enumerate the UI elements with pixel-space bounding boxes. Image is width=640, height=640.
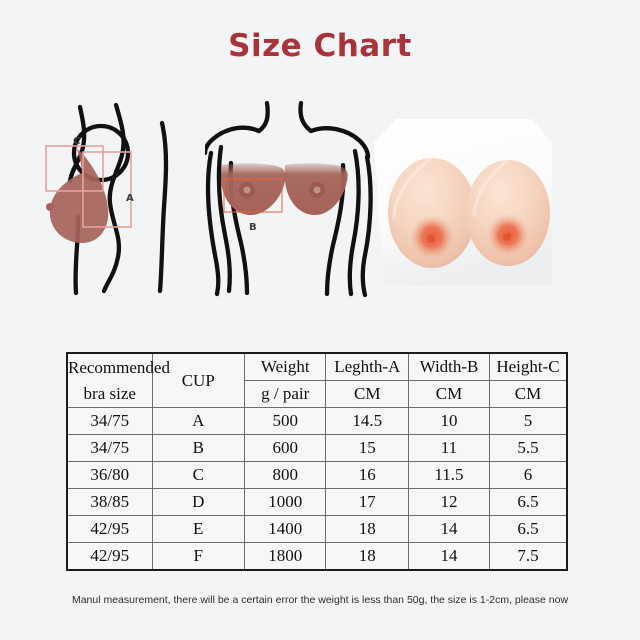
- table-row: 38/85 D 1000 17 12 6.5: [67, 489, 567, 516]
- size-table-container: Recommended bra size CUP Weight Leghth-A…: [66, 352, 568, 571]
- cell-cup: A: [152, 408, 245, 435]
- unit-length-a: CM: [326, 381, 409, 408]
- cell-bra-size: 34/75: [67, 435, 152, 462]
- cell-height-c: 5.5: [489, 435, 567, 462]
- label-a: A: [126, 193, 134, 204]
- size-table: Recommended bra size CUP Weight Leghth-A…: [66, 352, 568, 571]
- product-photo-svg: [360, 103, 560, 303]
- table-row: 34/75 B 600 15 11 5.5: [67, 435, 567, 462]
- cell-length-a: 16: [326, 462, 409, 489]
- header-length-a: Leghth-A: [326, 353, 409, 381]
- label-b: B: [249, 222, 257, 233]
- table-row: 42/95 E 1400 18 14 6.5: [67, 516, 567, 543]
- cell-length-a: 18: [326, 543, 409, 571]
- cell-cup: E: [152, 516, 245, 543]
- page-title: Size Chart: [0, 28, 640, 64]
- cell-cup: D: [152, 489, 245, 516]
- cell-length-a: 18: [326, 516, 409, 543]
- cell-height-c: 6.5: [489, 489, 567, 516]
- cell-height-c: 7.5: [489, 543, 567, 571]
- table-row: 34/75 A 500 14.5 10 5: [67, 408, 567, 435]
- table-header-row-1: Recommended bra size CUP Weight Leghth-A…: [67, 353, 567, 381]
- header-bra-size: Recommended bra size: [67, 353, 152, 408]
- cell-length-a: 14.5: [326, 408, 409, 435]
- illustration-band: C A: [0, 95, 640, 310]
- cell-cup: C: [152, 462, 245, 489]
- cell-height-c: 6.5: [489, 516, 567, 543]
- cell-width-b: 12: [408, 489, 489, 516]
- cell-weight: 1000: [245, 489, 326, 516]
- cell-weight: 500: [245, 408, 326, 435]
- cell-bra-size: 36/80: [67, 462, 152, 489]
- header-weight: Weight: [245, 353, 326, 381]
- cell-bra-size: 42/95: [67, 543, 152, 571]
- cell-weight: 1400: [245, 516, 326, 543]
- unit-height-c: CM: [489, 381, 567, 408]
- cell-width-b: 11.5: [408, 462, 489, 489]
- table-row: 42/95 F 1800 18 14 7.5: [67, 543, 567, 571]
- side-profile-diagram: C A: [38, 95, 218, 315]
- cell-width-b: 14: [408, 543, 489, 571]
- cell-weight: 1800: [245, 543, 326, 571]
- cell-bra-size: 42/95: [67, 516, 152, 543]
- cell-weight: 600: [245, 435, 326, 462]
- cell-width-b: 11: [408, 435, 489, 462]
- label-c: C: [73, 136, 80, 147]
- cell-weight: 800: [245, 462, 326, 489]
- cell-length-a: 15: [326, 435, 409, 462]
- cell-height-c: 6: [489, 462, 567, 489]
- cell-width-b: 10: [408, 408, 489, 435]
- table-row: 36/80 C 800 16 11.5 6: [67, 462, 567, 489]
- cell-bra-size: 38/85: [67, 489, 152, 516]
- header-height-c: Height-C: [489, 353, 567, 381]
- cell-bra-size: 34/75: [67, 408, 152, 435]
- cell-cup: B: [152, 435, 245, 462]
- disclaimer-note: Manul measurement, there will be a certa…: [0, 594, 640, 606]
- silicone-breast-forms-photo: [360, 103, 560, 303]
- unit-width-b: CM: [408, 381, 489, 408]
- cell-cup: F: [152, 543, 245, 571]
- cell-length-a: 17: [326, 489, 409, 516]
- cell-height-c: 5: [489, 408, 567, 435]
- size-chart-page: Size Chart: [0, 0, 640, 640]
- header-width-b: Width-B: [408, 353, 489, 381]
- cell-width-b: 14: [408, 516, 489, 543]
- unit-weight: g / pair: [245, 381, 326, 408]
